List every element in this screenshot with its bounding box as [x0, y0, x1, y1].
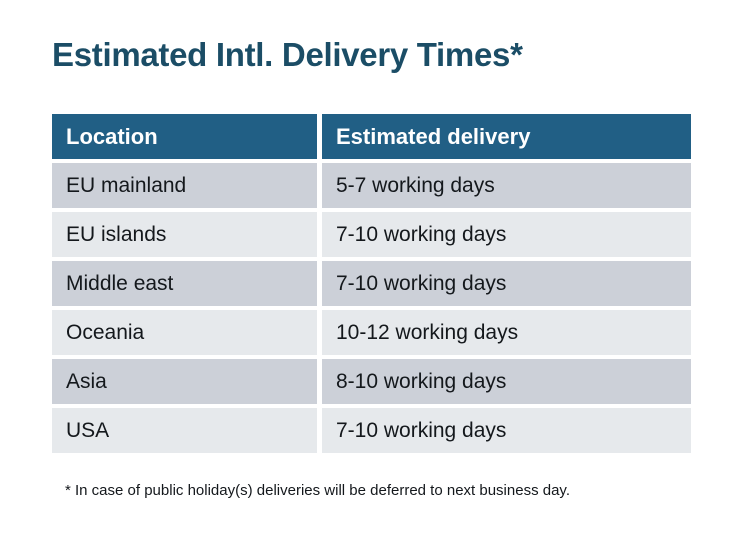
cell-delivery: 7-10 working days: [322, 261, 691, 306]
table-row: USA 7-10 working days: [52, 408, 691, 453]
table-row: Asia 8-10 working days: [52, 359, 691, 404]
cell-delivery: 10-12 working days: [322, 310, 691, 355]
column-header-estimated-delivery: Estimated delivery: [322, 114, 691, 159]
cell-delivery: 7-10 working days: [322, 212, 691, 257]
table-row: EU mainland 5-7 working days: [52, 163, 691, 208]
cell-delivery: 7-10 working days: [322, 408, 691, 453]
cell-delivery: 8-10 working days: [322, 359, 691, 404]
cell-location: USA: [52, 408, 317, 453]
delivery-times-page: Estimated Intl. Delivery Times* Location…: [0, 0, 745, 536]
table-header-row: Location Estimated delivery: [52, 114, 691, 159]
table-row: Middle east 7-10 working days: [52, 261, 691, 306]
column-header-location: Location: [52, 114, 317, 159]
cell-delivery: 5-7 working days: [322, 163, 691, 208]
page-title: Estimated Intl. Delivery Times*: [52, 36, 523, 74]
cell-location: Oceania: [52, 310, 317, 355]
cell-location: EU mainland: [52, 163, 317, 208]
cell-location: EU islands: [52, 212, 317, 257]
delivery-times-table: Location Estimated delivery EU mainland …: [52, 114, 691, 453]
table-row: EU islands 7-10 working days: [52, 212, 691, 257]
footnote-text: * In case of public holiday(s) deliverie…: [65, 482, 570, 499]
cell-location: Asia: [52, 359, 317, 404]
cell-location: Middle east: [52, 261, 317, 306]
table-row: Oceania 10-12 working days: [52, 310, 691, 355]
